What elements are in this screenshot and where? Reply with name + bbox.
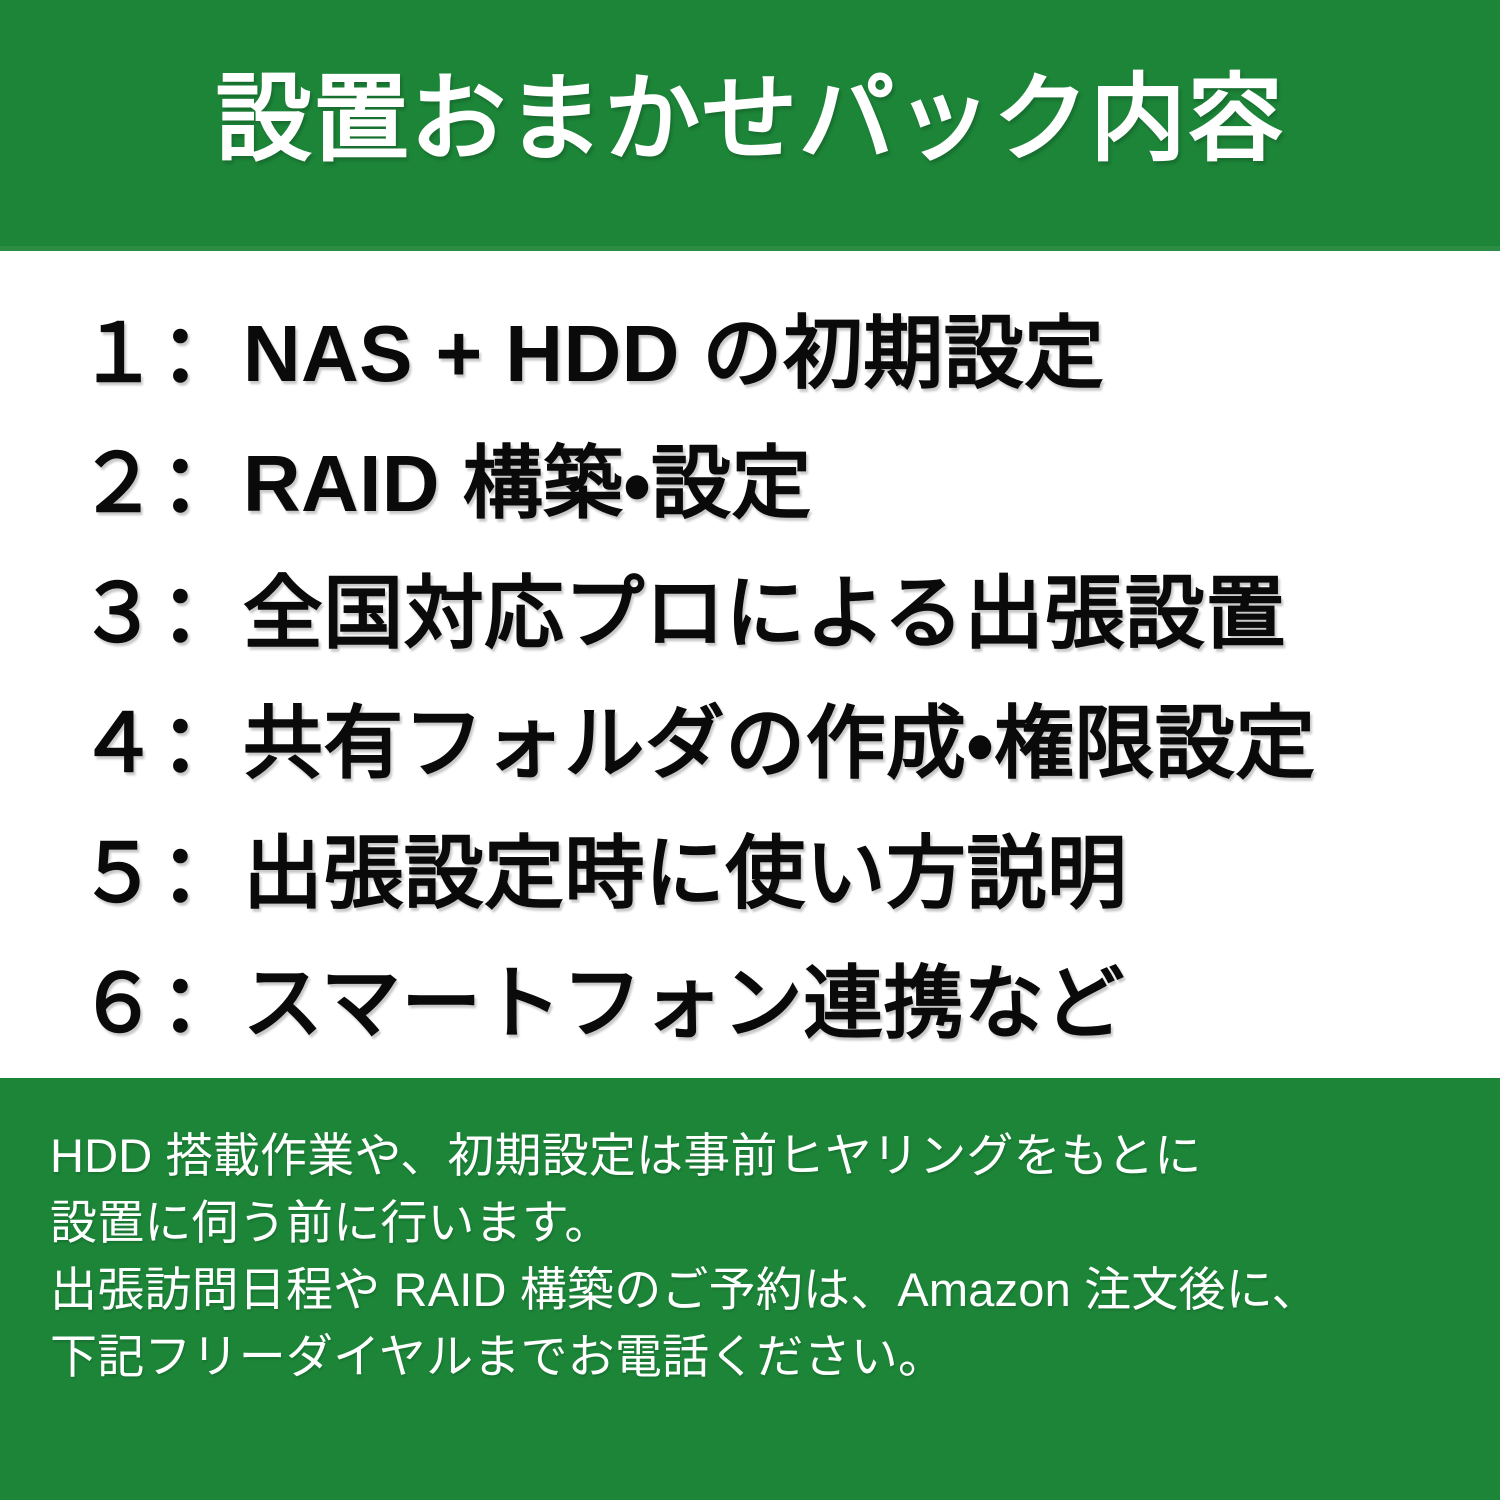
list-item-label: NAS + HDD の初期設定 [243,289,1105,419]
list-item: ２ ： RAID 構築・設定 [78,419,1500,549]
list-item-number: ２ [78,419,158,549]
list-item-number: １ [78,289,158,419]
list-item: ５ ： 出張設定時に使い方説明 [78,809,1500,939]
footer-note-line: 下記フリーダイヤルまでお電話ください。 [50,1323,1500,1390]
footer-note-banner: HDD 搭載作業や、初期設定は事前ヒヤリングをもとに 設置に伺う前に行います。 … [0,1078,1500,1500]
list-item-label: RAID 構築・設定 [243,419,812,549]
list-item-label: スマートフォン連携など [243,939,1125,1069]
list-item-number: ５ [78,809,158,939]
list-item-separator: ： [158,289,242,419]
list-item-separator: ： [158,939,242,1069]
list-item: １ ： NAS + HDD の初期設定 [78,289,1500,419]
list-item-number: ６ [78,939,158,1069]
footer-note-line: 設置に伺う前に行います。 [50,1189,1500,1256]
list-item: ４ ： 共有フォルダの作成・権限設定 [78,679,1500,809]
list-item-label: 出張設定時に使い方説明 [243,809,1127,939]
pack-contents-list: １ ： NAS + HDD の初期設定 ２ ： RAID 構築・設定 ３ ： 全… [78,289,1500,1069]
list-item-label: 全国対応プロによる出張設置 [243,549,1286,679]
pack-contents-section: １ ： NAS + HDD の初期設定 ２ ： RAID 構築・設定 ３ ： 全… [0,251,1500,1078]
list-item-label: 共有フォルダの作成・権限設定 [243,679,1316,809]
list-item: ６ ： スマートフォン連携など [78,939,1500,1069]
header-banner: 設置おまかせパック内容 [0,0,1500,246]
list-item-separator: ： [158,809,242,939]
list-item-separator: ： [158,679,242,809]
page-title: 設置おまかせパック内容 [216,72,1285,174]
promo-poster: 設置おまかせパック内容 １ ： NAS + HDD の初期設定 ２ ： RAID… [0,0,1500,1500]
list-item-separator: ： [158,419,242,549]
footer-note-line: HDD 搭載作業や、初期設定は事前ヒヤリングをもとに [50,1122,1500,1189]
footer-note-line: 出張訪問日程や RAID 構築のご予約は、Amazon 注文後に、 [50,1256,1500,1323]
list-item: ３ ： 全国対応プロによる出張設置 [78,549,1500,679]
list-item-number: ４ [78,679,158,809]
list-item-separator: ： [158,549,242,679]
list-item-number: ３ [78,549,158,679]
